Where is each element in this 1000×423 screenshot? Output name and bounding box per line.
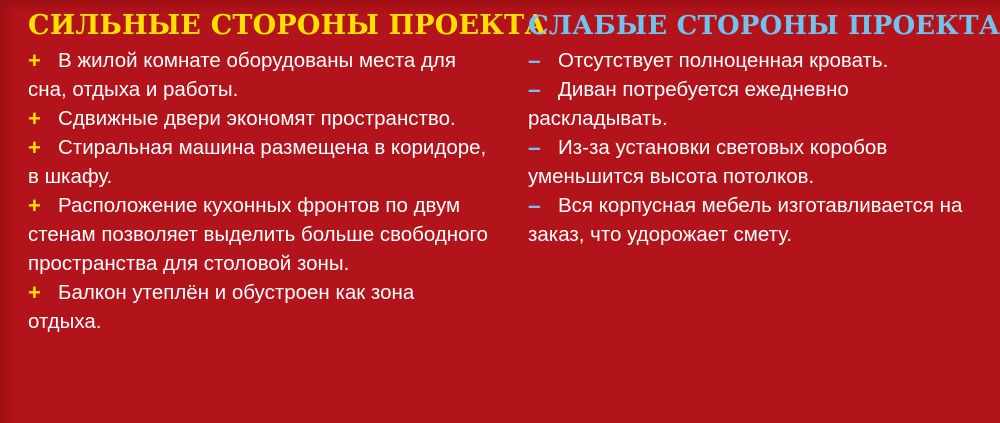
plus-marker-icon: +: [28, 104, 50, 133]
list-item-text: Стиральная машина размещена в коридоре, …: [28, 136, 486, 188]
pros-cons-board: СИЛЬНЫЕ СТОРОНЫ ПРОЕКТА +В жилой комнате…: [0, 0, 1000, 423]
plus-marker-icon: +: [28, 133, 50, 162]
list-item: –Диван потребуется ежедневно раскладыват…: [528, 75, 988, 133]
plus-marker-icon: +: [28, 46, 50, 75]
list-item-text: Из-за установки световых коробов уменьши…: [528, 136, 887, 188]
plus-marker-icon: +: [28, 191, 50, 220]
list-item-text: В жилой комнате оборудованы места для сн…: [28, 49, 456, 101]
weaknesses-list: –Отсутствует полноценная кровать. –Диван…: [528, 46, 988, 249]
plus-marker-icon: +: [28, 278, 50, 307]
list-item-text: Диван потребуется ежедневно раскладывать…: [528, 78, 849, 130]
list-item: +Балкон утеплён и обустроен как зона отд…: [28, 278, 490, 336]
list-item: –Из-за установки световых коробов уменьш…: [528, 133, 988, 191]
minus-marker-icon: –: [528, 75, 550, 104]
weaknesses-heading: СЛАБЫЕ СТОРОНЫ ПРОЕКТА: [528, 11, 988, 41]
list-item: +Сдвижные двери экономят пространство.: [28, 104, 490, 133]
minus-marker-icon: –: [528, 46, 550, 75]
list-item: –Отсутствует полноценная кровать.: [528, 46, 988, 75]
list-item: –Вся корпусная мебель изготавливает­ся н…: [528, 191, 988, 249]
list-item: +Расположение кухонных фронтов по двум с…: [28, 191, 490, 278]
list-item-text: Расположение кухонных фронтов по двум ст…: [28, 194, 488, 275]
strengths-list: +В жилой комнате оборудованы места для с…: [28, 46, 490, 336]
columns-container: СИЛЬНЫЕ СТОРОНЫ ПРОЕКТА +В жилой комнате…: [0, 0, 1000, 423]
strengths-heading: СИЛЬНЫЕ СТОРОНЫ ПРОЕКТА: [28, 11, 490, 41]
list-item: +В жилой комнате оборудованы места для с…: [28, 46, 490, 104]
weaknesses-column: СЛАБЫЕ СТОРОНЫ ПРОЕКТА –Отсутствует полн…: [500, 0, 1000, 423]
list-item-text: Сдвижные двери экономят пространство.: [58, 107, 456, 130]
list-item-text: Балкон утеплён и обустроен как зона отды…: [28, 281, 414, 333]
list-item-text: Вся корпусная мебель изготавливает­ся на…: [528, 194, 962, 246]
list-item: +Стиральная машина размещена в коридоре,…: [28, 133, 490, 191]
list-item-text: Отсутствует полноценная кровать.: [558, 49, 888, 72]
minus-marker-icon: –: [528, 191, 550, 220]
minus-marker-icon: –: [528, 133, 550, 162]
strengths-column: СИЛЬНЫЕ СТОРОНЫ ПРОЕКТА +В жилой комнате…: [0, 0, 500, 423]
